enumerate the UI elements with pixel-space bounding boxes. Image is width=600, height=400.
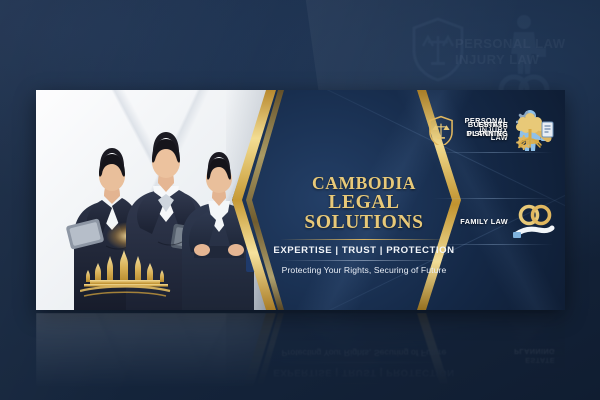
service-separator [433,198,553,199]
service-separator [433,152,553,153]
service-item-family-law[interactable]: FAMILY LAW [427,200,555,244]
brand-divider-top [280,239,448,240]
service-label: FAMILY LAW [460,218,508,227]
rings-in-hand-icon [513,201,555,243]
watermark-text: PERSONAL LAW INJURY LAW [455,36,600,69]
service-label: ESTATE PLANNING [467,121,508,139]
tree-document-icon [513,109,555,151]
legal-services-banner: CAMBODIA LEGAL SOLUTIONS EXPERTISE | TRU… [36,90,565,310]
angkor-wat-skyline-icon [80,250,172,298]
service-item-estate-planning[interactable]: ESTATE PLANNING [427,108,555,152]
screenshot-stage: PERSONAL LAW INJURY LAW [0,0,600,400]
services-list: PERSONAL INJURY LAW FAMILY LAW [427,108,555,294]
brand-divider-bottom [280,260,448,261]
service-separator [433,244,553,245]
